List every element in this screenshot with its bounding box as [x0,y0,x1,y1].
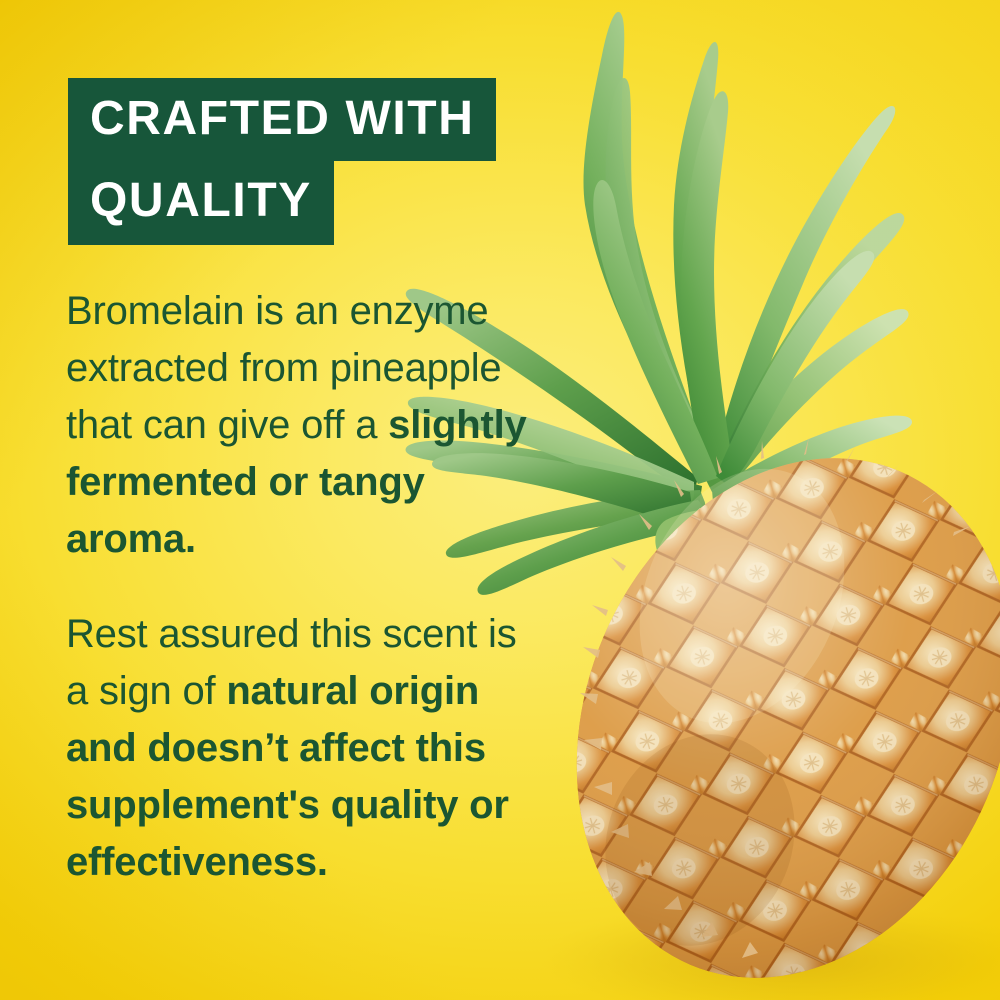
headline-line-2: QUALITY [68,161,334,245]
headline-line-1: CRAFTED WITH [68,78,496,161]
text-content: CRAFTED WITH QUALITY Bromelain is an enz… [0,0,1000,1000]
promo-graphic: CRAFTED WITH QUALITY Bromelain is an enz… [0,0,1000,1000]
paragraph-2: Rest assured this scent is a sign of nat… [66,606,536,891]
headline-block: CRAFTED WITH QUALITY [68,78,496,245]
paragraph-1: Bromelain is an enzyme extracted from pi… [66,283,536,568]
body-copy: Bromelain is an enzyme extracted from pi… [66,283,536,891]
